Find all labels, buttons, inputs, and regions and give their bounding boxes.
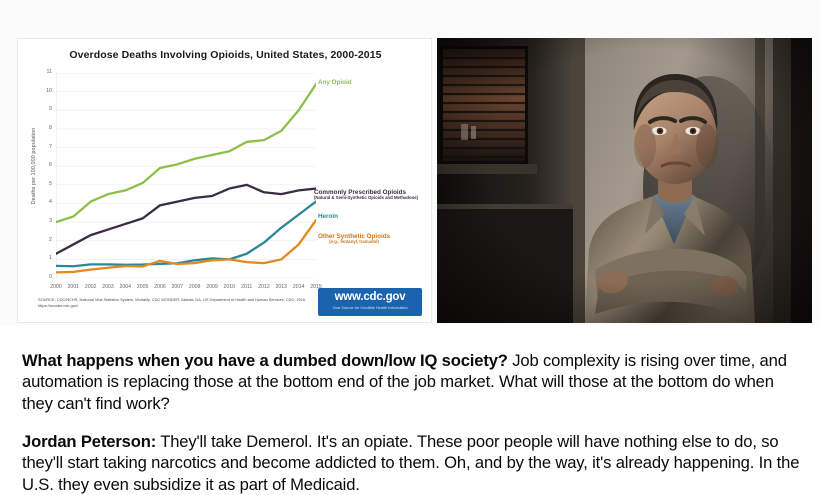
y-tick-0: 0: [36, 275, 52, 280]
chart-title: Overdose Deaths Involving Opioids, Unite…: [18, 49, 432, 61]
series-label-heroin-text: Heroin: [318, 213, 338, 220]
y-tick-6: 6: [36, 163, 52, 168]
chart-svg: [56, 73, 316, 278]
transcript-body: What happens when you have a dumbed down…: [0, 325, 820, 487]
y-tick-5: 5: [36, 182, 52, 187]
paragraph-question-lead: What happens when you have a dumbed down…: [22, 351, 508, 370]
paragraph-answer: Jordan Peterson: They'll take Demerol. I…: [22, 431, 800, 495]
y-tick-4: 4: [36, 200, 52, 205]
portrait-illustration: [437, 38, 812, 323]
cdc-gov-badge[interactable]: www.cdc.gov Your Source for Credible Hea…: [318, 288, 422, 316]
chart-line-any-opioid: [56, 84, 316, 222]
series-label-any-opioid: Any Opioid: [318, 79, 352, 86]
y-tick-10: 10: [36, 89, 52, 94]
portrait-photo: [437, 38, 812, 323]
y-tick-1: 1: [36, 256, 52, 261]
y-tick-8: 8: [36, 126, 52, 131]
chart-series-group: [56, 84, 316, 272]
y-tick-9: 9: [36, 107, 52, 112]
series-label-commonly-prescribed-opioids: Commonly Prescribed Opioids (Natural & S…: [314, 189, 418, 201]
paragraph-question: What happens when you have a dumbed down…: [22, 350, 800, 415]
chart-plot-wrapper: Deaths per 100,000 population 11 10 9 8 …: [18, 67, 432, 292]
y-tick-7: 7: [36, 145, 52, 150]
speaker-name-jordan-peterson: Jordan Peterson:: [22, 432, 156, 451]
series-label-other-synthetic-opioids: Other Synthetic Opioids (e.g., fentanyl,…: [318, 233, 390, 245]
chart-plot-area: [56, 73, 316, 278]
chart-line-commonly-prescribed-opioids: [56, 185, 316, 254]
chart-source-note: SOURCE: CDC/NCHS, National Vital Statist…: [38, 297, 328, 309]
series-sublabel-cpo-text: (Natural & Semi-Synthetic Opioids and Me…: [314, 196, 418, 201]
opioid-overdose-chart: Overdose Deaths Involving Opioids, Unite…: [17, 38, 432, 323]
series-label-any-opioid-text: Any Opioid: [318, 79, 352, 86]
media-strip: Overdose Deaths Involving Opioids, Unite…: [0, 0, 820, 325]
y-tick-2: 2: [36, 238, 52, 243]
y-tick-3: 3: [36, 219, 52, 224]
series-label-heroin: Heroin: [318, 213, 338, 220]
series-sublabel-oso-text: (e.g., fentanyl, tramadol): [318, 240, 390, 245]
y-tick-11: 11: [36, 70, 52, 75]
cdc-badge-tagline: Your Source for Credible Health Informat…: [318, 306, 422, 310]
chart-gridlines: [56, 73, 316, 278]
cdc-badge-url: www.cdc.gov: [318, 292, 422, 304]
